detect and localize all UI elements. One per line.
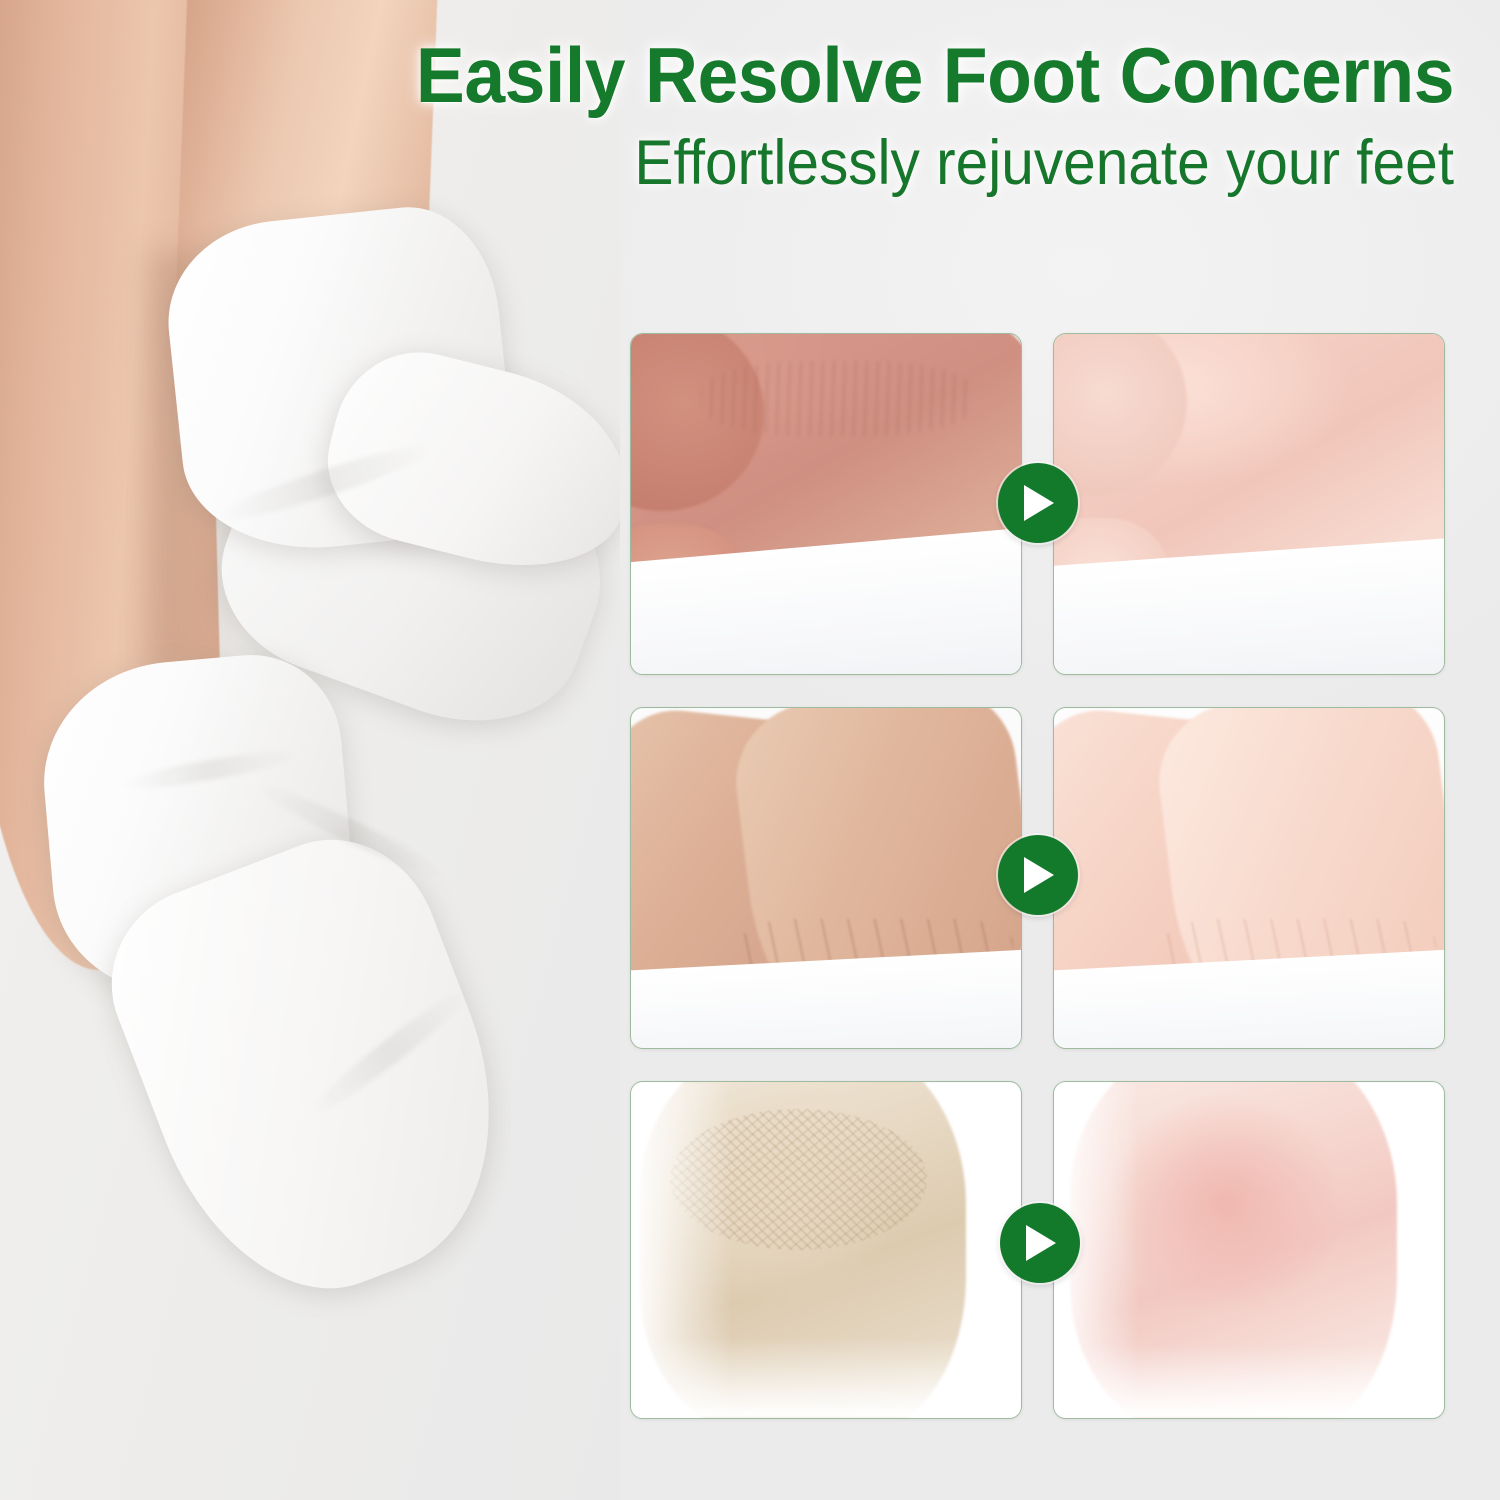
before-rough-foot-photo: [631, 334, 1021, 674]
play-arrow-icon[interactable]: [998, 835, 1078, 915]
photo-fade-bottom: [1054, 1344, 1444, 1418]
before-dull-feet[interactable]: [630, 707, 1022, 1049]
before-cracked-heel[interactable]: [630, 1081, 1022, 1419]
headings-block: Easily Resolve Foot Concerns Effortlessl…: [0, 36, 1500, 196]
after-smooth-foot[interactable]: [1053, 333, 1445, 675]
photo-fade-bottom: [631, 1337, 1021, 1418]
page-title: Easily Resolve Foot Concerns: [87, 36, 1454, 116]
foot-mask-socks-photo: [0, 0, 620, 1500]
before-rough-foot[interactable]: [630, 333, 1022, 675]
after-smooth-heel-photo: [1054, 1082, 1444, 1418]
before-cracked-heel-photo: [631, 1082, 1021, 1418]
skin-creases: [701, 361, 974, 436]
after-soft-feet-photo: [1054, 708, 1444, 1048]
play-arrow-icon[interactable]: [1000, 1203, 1080, 1283]
after-soft-feet[interactable]: [1053, 707, 1445, 1049]
before-dull-feet-photo: [631, 708, 1021, 1048]
infographic-canvas: Easily Resolve Foot Concerns Effortlessl…: [0, 0, 1500, 1500]
play-arrow-icon[interactable]: [998, 463, 1078, 543]
page-subtitle: Effortlessly rejuvenate your feet: [102, 130, 1454, 196]
after-smooth-heel[interactable]: [1053, 1081, 1445, 1419]
after-smooth-foot-photo: [1054, 334, 1444, 674]
